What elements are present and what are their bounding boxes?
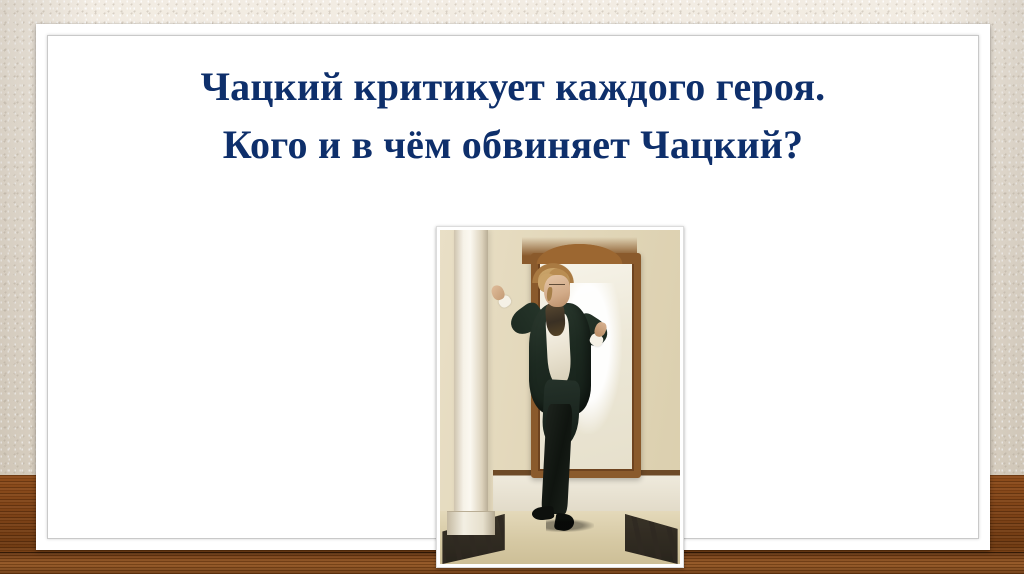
figure-trousers [542,404,574,514]
title-line-2: Кого и в чём обвиняет Чацкий? [48,116,978,174]
page-title: Чацкий критикует каждого героя. Кого и в… [48,58,978,174]
illustration-chatsky [440,230,680,564]
figure-shadow [546,519,594,532]
title-line-1: Чацкий критикует каждого героя. [48,58,978,116]
glasses-icon [549,284,564,290]
slide-card: Чацкий критикует каждого героя. Кого и в… [36,24,990,550]
slide: Чацкий критикует каждого героя. Кого и в… [0,0,1024,574]
illustration-frame [436,226,684,568]
figure-chatsky [440,230,680,564]
slide-card-inner: Чацкий критикует каждого героя. Кого и в… [47,35,979,539]
